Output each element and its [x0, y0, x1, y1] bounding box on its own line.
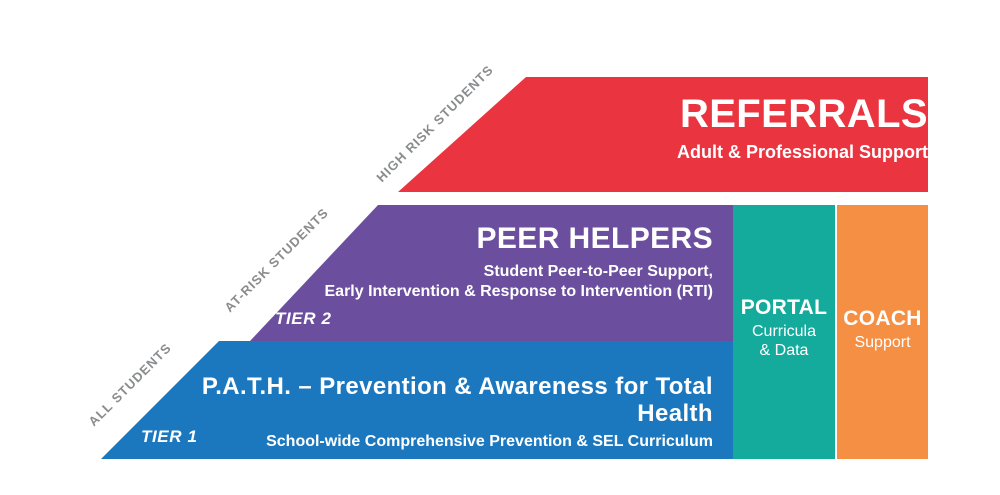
tier-2-text-block: PEER HELPERS Student Peer-to-Peer Suppor…	[293, 222, 713, 302]
portal-subtitle-line2: & Data	[733, 342, 835, 361]
pyramid-diagram: REFERRALS Adult & Professional Support H…	[0, 0, 1000, 495]
peer-helpers-subtitle-line1: Student Peer-to-Peer Support,	[293, 262, 713, 282]
portal-title: PORTAL	[733, 296, 835, 321]
peer-helpers-subtitle: Student Peer-to-Peer Support, Early Inte…	[293, 262, 713, 302]
peer-helpers-subtitle-line2: Early Intervention & Response to Interve…	[293, 282, 713, 302]
portal-subtitle-line1: Curricula	[733, 323, 835, 342]
referrals-subtitle: Adult & Professional Support	[508, 142, 928, 162]
peer-helpers-title: PEER HELPERS	[293, 222, 713, 256]
tier-1-label: TIER 1	[141, 427, 198, 447]
referrals-title: REFERRALS	[508, 92, 928, 137]
coach-subtitle: Support	[837, 334, 928, 353]
tier-2-label: TIER 2	[275, 309, 332, 329]
portal-text-block: PORTAL Curricula & Data	[733, 296, 835, 361]
coach-text-block: COACH Support	[837, 307, 928, 353]
portal-subtitle: Curricula & Data	[733, 323, 835, 361]
tier-1-text-block: P.A.T.H. – Prevention & Awareness for To…	[153, 374, 713, 451]
tier-3-text-block: REFERRALS Adult & Professional Support	[508, 92, 928, 162]
path-subtitle: School-wide Comprehensive Prevention & S…	[153, 433, 713, 451]
path-title: P.A.T.H. – Prevention & Awareness for To…	[153, 374, 713, 428]
coach-title: COACH	[837, 307, 928, 332]
